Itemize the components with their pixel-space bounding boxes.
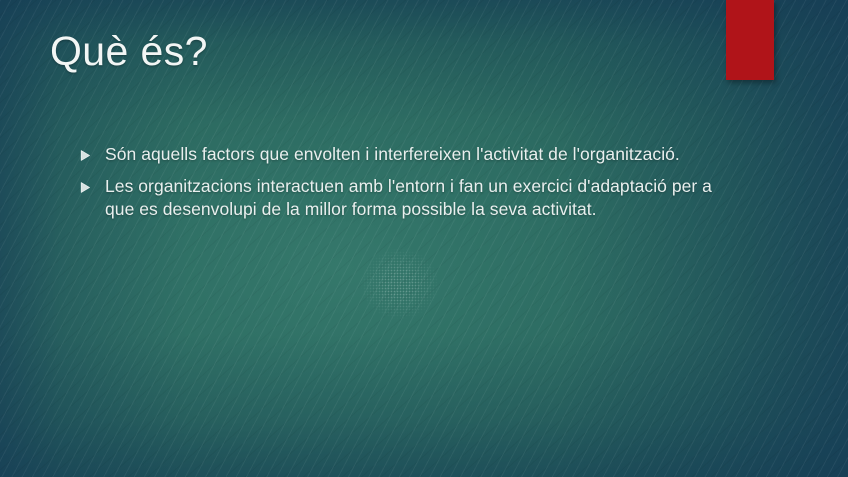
slide-title: Què és? — [50, 27, 690, 76]
bullet-list-item: Són aquells factors que envolten i inter… — [80, 143, 740, 166]
red-accent-rectangle — [726, 0, 774, 80]
bullet-list-item: Les organitzacions interactuen amb l'ent… — [80, 175, 740, 221]
bullet-text: Les organitzacions interactuen amb l'ent… — [105, 175, 740, 221]
triangle-right-icon — [80, 143, 105, 161]
triangle-right-icon — [80, 175, 105, 193]
slide-body-content: Són aquells factors que envolten i inter… — [80, 143, 740, 230]
presentation-slide: Què és? Són aquells factors que envolten… — [0, 0, 848, 477]
bullet-text: Són aquells factors que envolten i inter… — [105, 143, 740, 166]
slide-background-dither-blob — [360, 248, 440, 320]
